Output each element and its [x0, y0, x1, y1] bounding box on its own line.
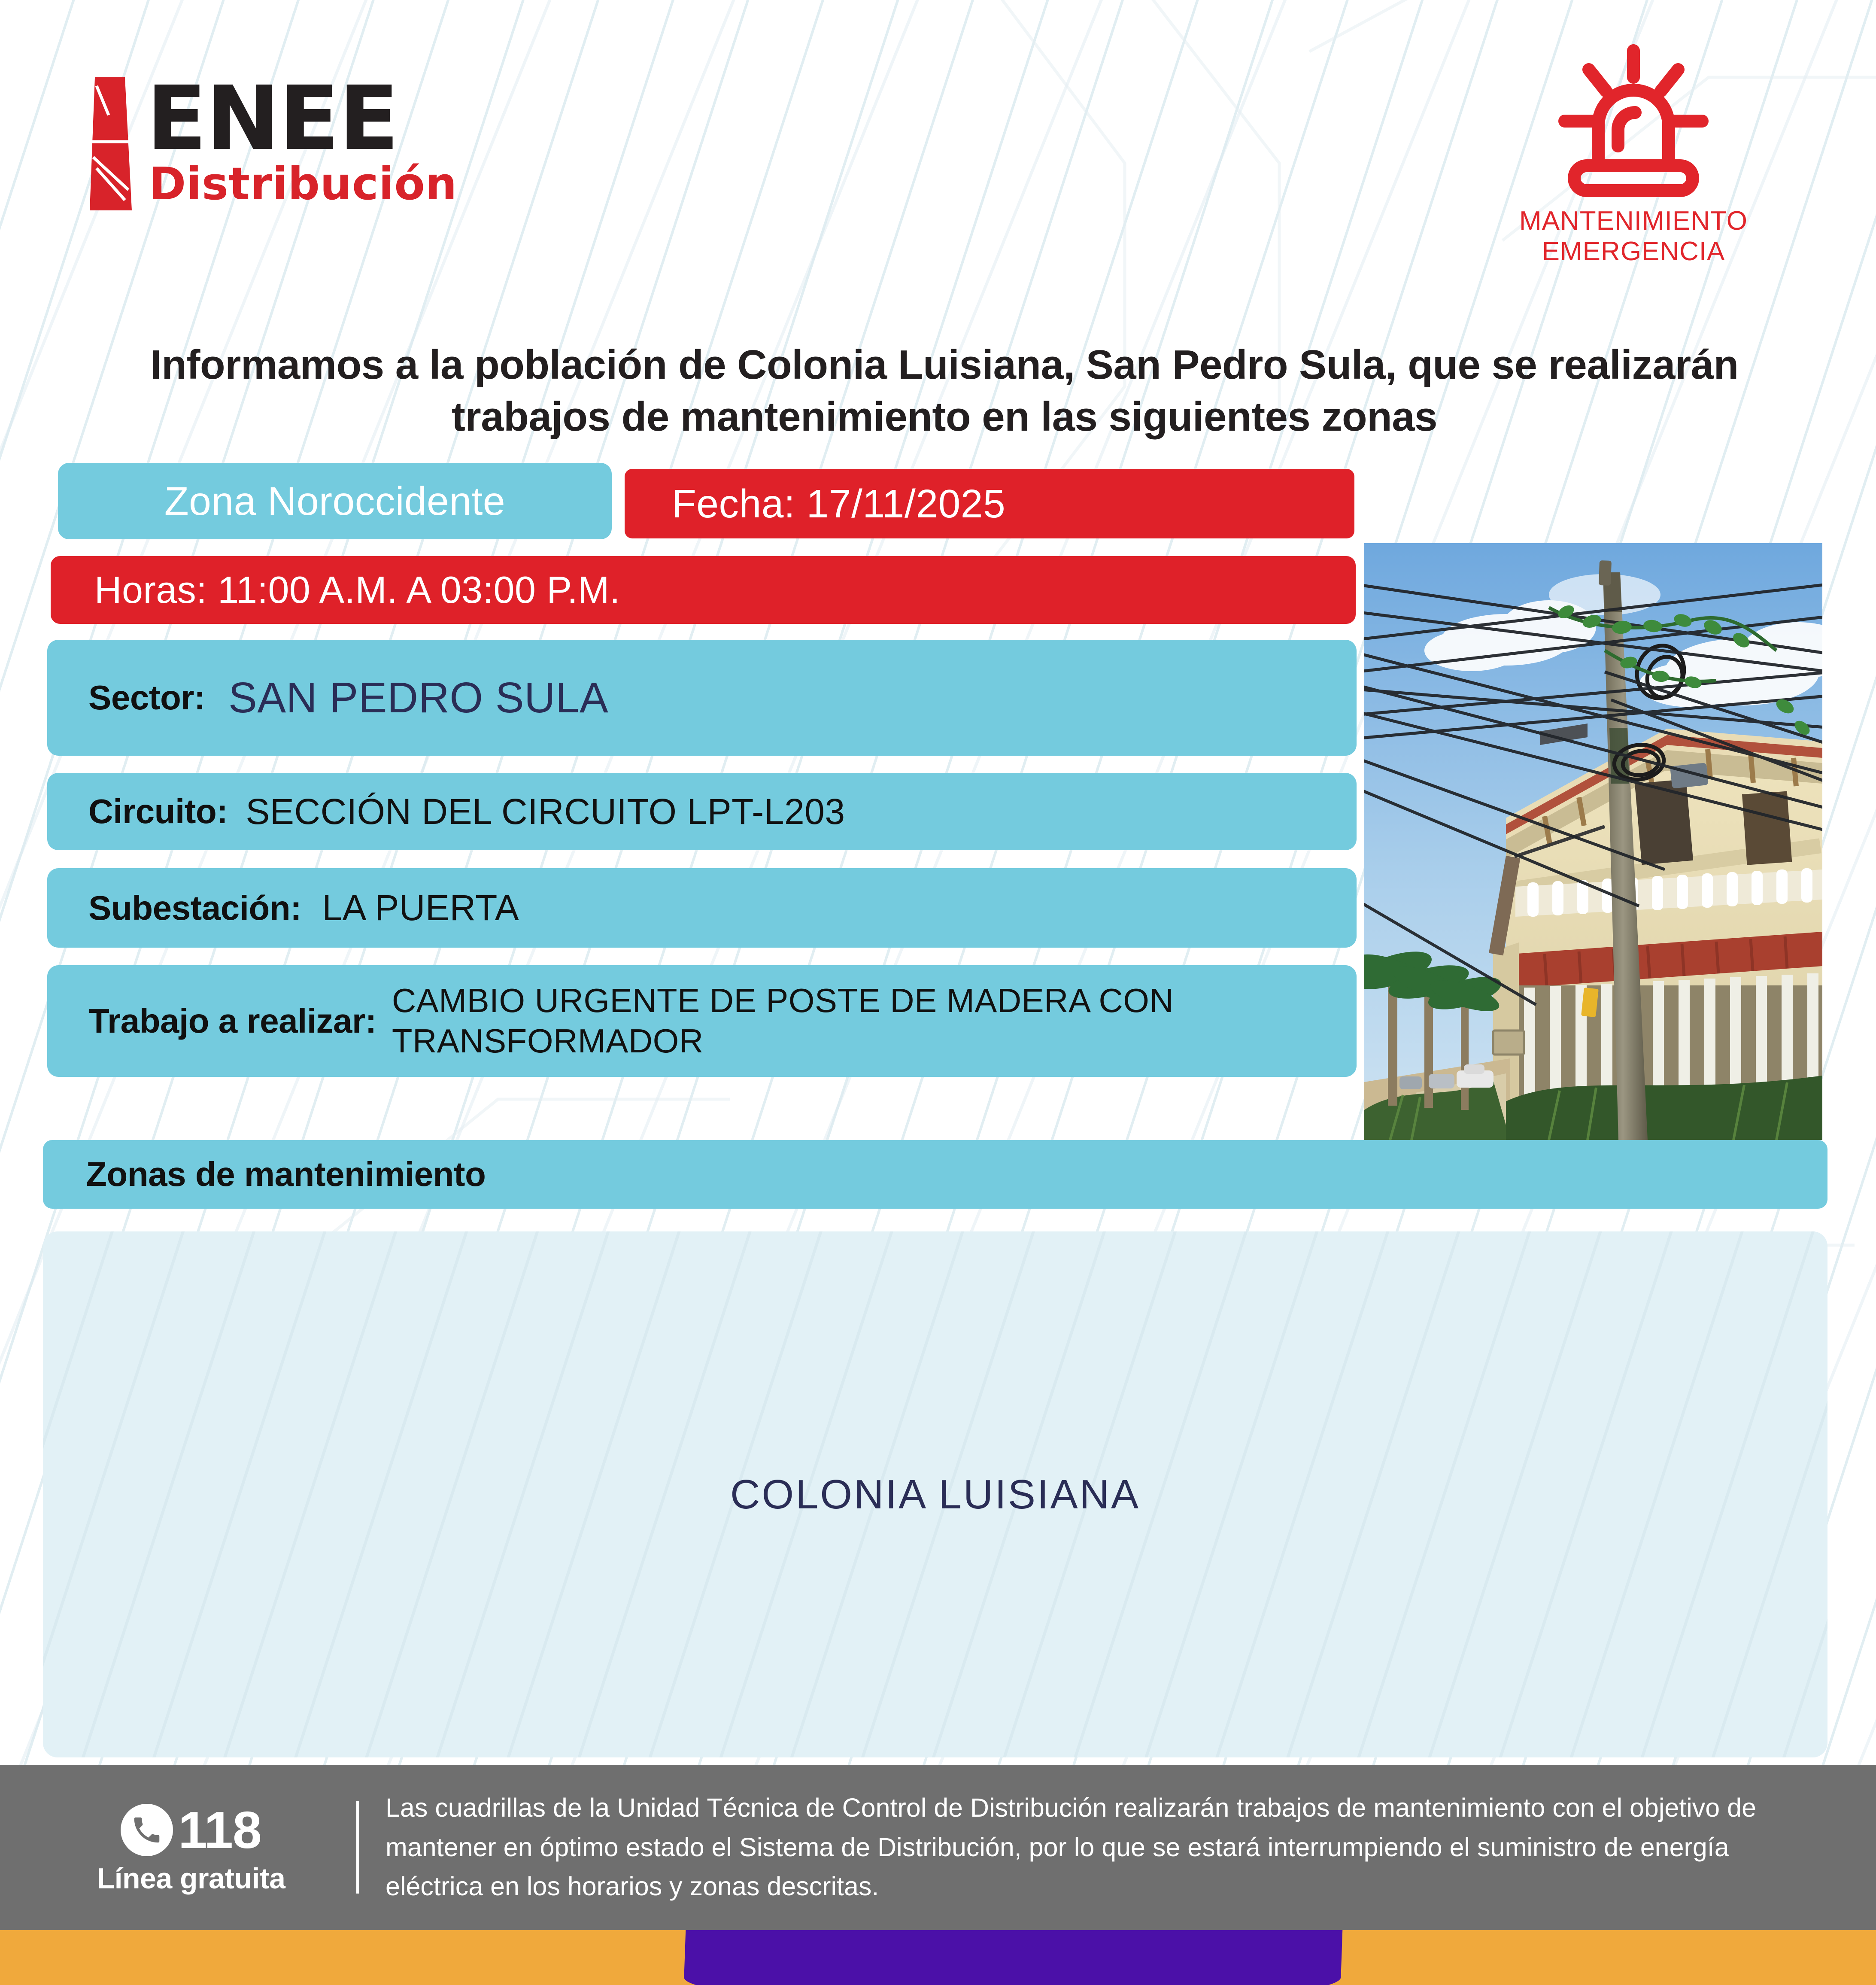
header: ENEE Distribución	[0, 0, 1876, 326]
maintenance-photo	[1364, 543, 1822, 1140]
logo-primary-text: ENEE	[146, 77, 457, 161]
info-row-label: Trabajo a realizar:	[88, 1001, 376, 1041]
bottom-strip-purple-segment	[683, 1930, 1343, 1985]
footer: 118 Línea gratuita Las cuadrillas de la …	[0, 1765, 1876, 1930]
info-row-label: Circuito:	[88, 792, 228, 831]
zones-panel: COLONIA LUISIANA	[43, 1231, 1827, 1757]
phone-caption: Línea gratuita	[97, 1862, 285, 1895]
siren-icon	[1500, 34, 1767, 206]
phone-icon	[121, 1804, 173, 1856]
info-row-subestacion: Subestación: LA PUERTA	[47, 868, 1357, 948]
zones-header-label: Zonas de mantenimiento	[86, 1155, 486, 1194]
info-row-label: Subestación:	[88, 888, 301, 928]
bottom-color-strip	[0, 1930, 1876, 1985]
enee-logo: ENEE Distribución	[84, 77, 457, 210]
info-row-value: CAMBIO URGENTE DE POSTE DE MADERA CON TR…	[392, 981, 1339, 1061]
emergency-label-line2: EMERGENCIA	[1500, 237, 1767, 267]
utility-pole-photo	[1364, 543, 1822, 1140]
zones-header-bar: Zonas de mantenimiento	[43, 1140, 1827, 1209]
headline-text: Informamos a la población de Colonia Lui…	[69, 339, 1820, 443]
info-row-label: Sector:	[88, 678, 205, 717]
footer-divider	[356, 1801, 359, 1894]
poster-root: ENEE Distribución	[0, 0, 1876, 1985]
zone-badge-label: Zona Noroccidente	[164, 478, 505, 524]
footer-phone-block: 118 Línea gratuita	[0, 1800, 356, 1895]
emergency-label-line1: MANTENIMIENTO	[1500, 206, 1767, 237]
hours-badge: Horas: 11:00 A.M. A 03:00 P.M.	[51, 556, 1356, 624]
zones-list: COLONIA LUISIANA	[43, 1231, 1827, 1757]
info-row-value: LA PUERTA	[322, 886, 519, 930]
info-row-trabajo: Trabajo a realizar: CAMBIO URGENTE DE PO…	[47, 965, 1357, 1077]
date-badge-label: Fecha: 17/11/2025	[672, 481, 1005, 527]
info-row-value: SECCIÓN DEL CIRCUITO LPT-L203	[246, 790, 845, 833]
list-item: COLONIA LUISIANA	[730, 1467, 1140, 1523]
footer-disclaimer: Las cuadrillas de la Unidad Técnica de C…	[386, 1788, 1876, 1906]
date-badge: Fecha: 17/11/2025	[625, 469, 1354, 538]
zone-badge: Zona Noroccidente	[58, 463, 612, 539]
emergency-badge: MANTENIMIENTO EMERGENCIA	[1500, 34, 1767, 267]
phone-number: 118	[178, 1800, 261, 1860]
info-row-value: SAN PEDRO SULA	[228, 672, 608, 723]
transmission-tower-icon	[84, 77, 136, 210]
info-row-sector: Sector: SAN PEDRO SULA	[47, 640, 1357, 756]
hours-badge-label: Horas: 11:00 A.M. A 03:00 P.M.	[94, 568, 620, 612]
info-row-circuito: Circuito: SECCIÓN DEL CIRCUITO LPT-L203	[47, 773, 1357, 850]
logo-secondary-text: Distribución	[149, 163, 457, 205]
